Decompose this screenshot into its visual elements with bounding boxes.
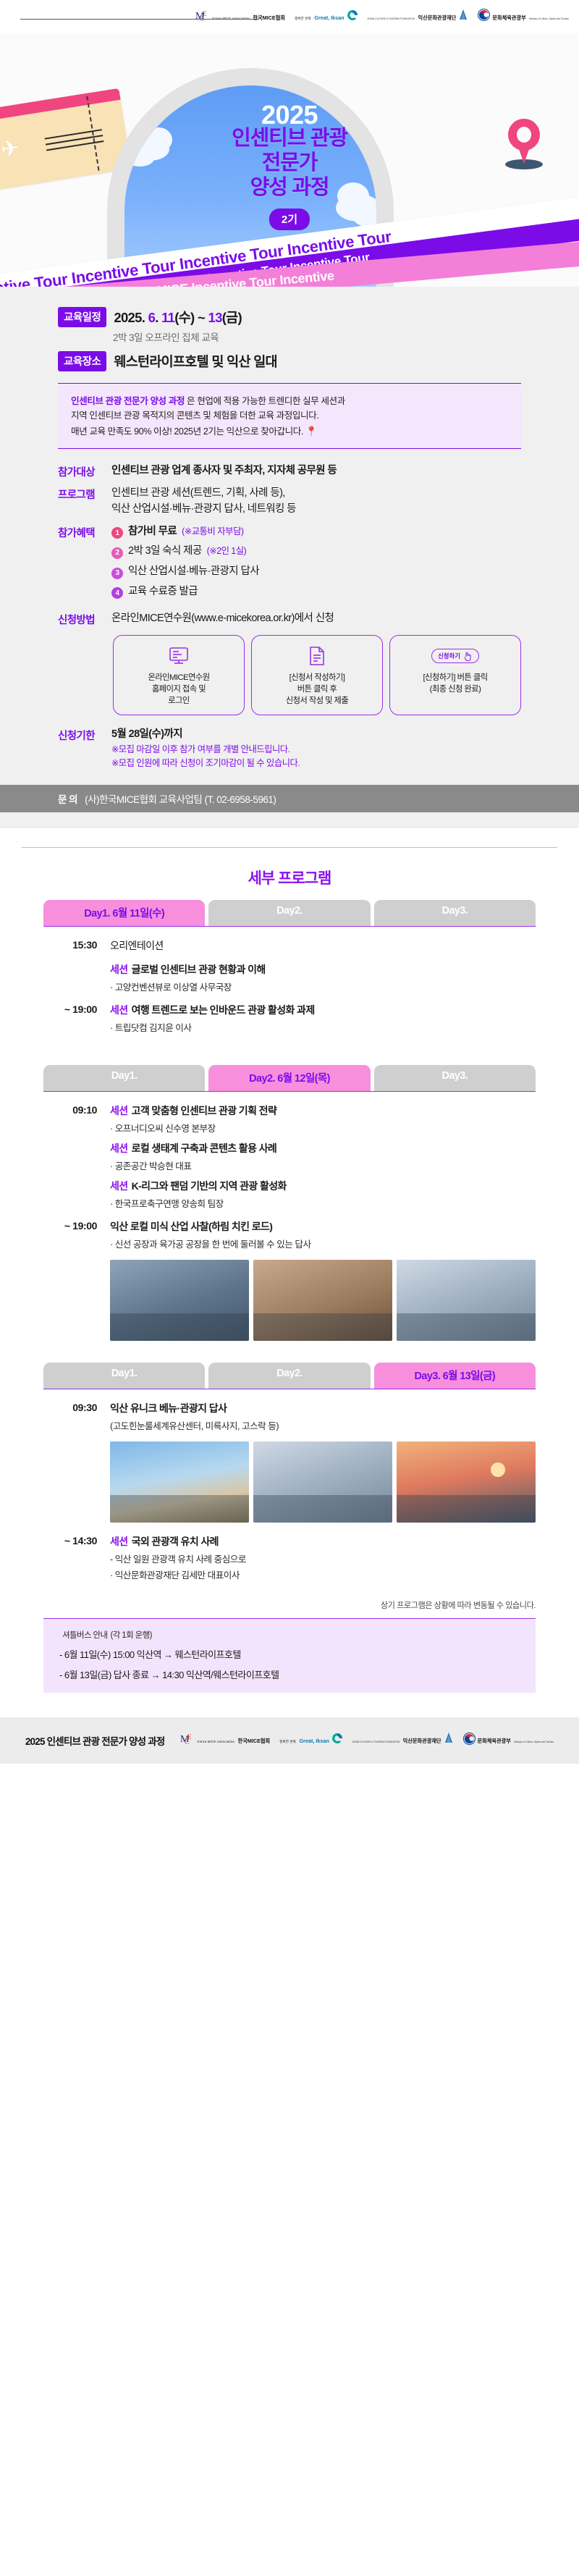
apply-step-text: [신청하기] 버튼 클릭 (최종 신청 완료) — [394, 672, 517, 695]
tab-day1[interactable]: Day1. 6월 11일(수) — [43, 900, 205, 926]
hero-section: ✈ — [0, 33, 579, 287]
shuttle-title: 셔틀버스 안내(각 1회 운행) — [59, 1629, 520, 1641]
description-line-3: 매년 교육 만족도 90% 이상! 2025년 2기는 익산으로 찾아갑니다. … — [71, 424, 508, 439]
slot-time: ~ 19:00 — [43, 1003, 110, 1034]
program-row: 프로그램 인센티브 관광 세션(트렌드, 기획, 사례 등), 익산 산업시설·… — [58, 486, 521, 518]
apply-step-2[interactable]: [신청서 작성하기] 버튼 클릭 후 신청서 작성 및 제출 — [251, 635, 383, 715]
program-value: 인센티브 관광 세션(트렌드, 기획, 사례 등), 익산 산업시설·베뉴·관광… — [111, 486, 296, 518]
logo-en-text: IKSAN CULTURE & TOURISM FOUNDATION — [368, 17, 415, 20]
tab-day1[interactable]: Day1. — [43, 1363, 205, 1389]
list-item: 3 익산 산업시설·베뉴·관광지 답사 — [111, 564, 264, 580]
day-tabs-2: Day1. Day2. 6월 12일(목) Day3. — [43, 1065, 536, 1092]
slot-item-title: 세션국외 관광객 유치 사례 — [110, 1534, 536, 1549]
info-section: 교육일정 2025. 6. 11(수) ~ 13(금) 2박 3일 오프라인 집… — [0, 287, 579, 828]
mice-mark-icon: M E C — [180, 1732, 195, 1748]
header-rule — [20, 19, 259, 20]
venue-row: 교육장소 웨스턴라이프호텔 및 익산 일대 — [58, 351, 521, 371]
logo-en-text: 행복한 변화 — [279, 1740, 296, 1743]
logo-ministry-culture-sports-tourism: 문화체육관광부 Ministry of Culture, Sports and … — [463, 1733, 554, 1748]
shuttle-line: - 6월 13일(금) 답사 종료 → 14:30 익산역/웨스턴라이프호텔 — [59, 1667, 520, 1681]
slot-item-bullet: - 익산 일원 관광객 유치 사례 중심으로 — [110, 1552, 536, 1565]
footer-bar: 2025 인센티브 관광 전문가 양성 과정 M E C Korea MICE … — [0, 1717, 579, 1764]
benefit-text: 교육 수료증 발급 — [128, 584, 198, 600]
photo-thumbnail — [253, 1441, 392, 1523]
tab-day3[interactable]: Day3. 6월 13일(금) — [374, 1363, 536, 1389]
session-badge: 세션 — [110, 964, 128, 975]
program-disclaimer: 상기 프로그램은 상황에 따라 변동될 수 있습니다. — [43, 1599, 536, 1611]
slot-item-title: 오리엔테이션 — [110, 938, 536, 954]
list-item: 4 교육 수료증 발급 — [111, 584, 264, 600]
benefit-label: 참가혜택 — [58, 524, 111, 540]
contact-value: (사)한국MICE협회 교육사업팀 (T. 02-6958-5961) — [85, 794, 276, 805]
schedule-slot: 09:10 세션고객 맞춤형 인센티브 관광 기획 전략 · 오프너디오씨 신수… — [43, 1103, 536, 1210]
logo-en-text: Korea MICE Association — [197, 1740, 234, 1743]
hero-title: 인센티브 관광 전문가 양성 과정 — [0, 126, 579, 201]
list-item: 2 2박 3일 숙식 제공 (※2인 1실) — [111, 544, 264, 560]
session-badge: 세션 — [110, 1536, 128, 1547]
slot-item-bullet: · 한국프로축구연맹 양송희 팀장 — [110, 1196, 536, 1210]
logo-en-text: 행복한 변화 — [295, 17, 311, 20]
program-value-line-1: 인센티브 관광 세션(트렌드, 기획, 사례 등), — [111, 486, 296, 502]
slot-item-bullet: · 공존공간 박승현 대표 — [110, 1158, 536, 1172]
day-panel-2: Day1. Day2. 6월 12일(목) Day3. 09:10 세션고객 맞… — [43, 1065, 536, 1344]
benefit-text: 익산 산업시설·베뉴·관광지 답사 — [128, 564, 259, 580]
slot-item-title: 익산 유니크 베뉴·관광지 답사 — [110, 1401, 536, 1416]
taegeuk-icon — [463, 1733, 476, 1748]
tab-day2[interactable]: Day2. — [208, 900, 370, 926]
photo-thumbnail — [397, 1260, 536, 1341]
shuttle-note: (각 1회 운행) — [110, 1631, 151, 1640]
slot-item-title: 세션로컬 생태계 구축과 콘텐츠 활용 사례 — [110, 1141, 536, 1156]
hero-cohort-badge: 2기 — [269, 209, 310, 230]
day1-body: 15:30 오리엔테이션 세션글로벌 인센티브 관광 현황과 이해 · 고양컨벤… — [43, 927, 536, 1046]
hero-title-line-3: 양성 과정 — [0, 175, 579, 200]
slot-item-bullet: · 고양컨벤션뷰로 이상열 사무국장 — [110, 980, 536, 993]
logo-ko-text: Great, Iksan — [300, 1738, 329, 1744]
day3-body: 09:30 익산 유니크 베뉴·관광지 답사 (고도힌눈룰세계유산센터, 미륵사… — [43, 1389, 536, 1594]
venue-value: 웨스턴라이프호텔 및 익산 일대 — [114, 351, 276, 371]
session-badge: 세션 — [110, 1004, 128, 1016]
slot-item-title: 세션여행 트렌드로 보는 인바운드 관광 활성화 과제 — [110, 1003, 536, 1018]
mice-mark-icon: M E C — [195, 9, 210, 25]
deadline-row: 신청기한 5월 28일(수)까지 ※모집 마감일 이후 참가 여부를 개별 안내… — [58, 727, 521, 770]
schedule-month: 6 — [148, 310, 156, 325]
schedule-slot: 09:30 익산 유니크 베뉴·관광지 답사 (고도힌눈룰세계유산센터, 미륵사… — [43, 1401, 536, 1432]
deadline-note-2: ※모집 인원에 따라 신청이 조기마감이 될 수 있습니다. — [111, 757, 300, 770]
logo-ko-text: 한국MICE협회 — [238, 1738, 270, 1744]
benefit-text: 참가비 무료 — [128, 524, 177, 540]
benefit-row: 참가혜택 1 참가비 무료 (※교통비 자부담) 2 2박 3일 숙식 제공 (… — [58, 524, 521, 605]
benefit-list: 1 참가비 무료 (※교통비 자부담) 2 2박 3일 숙식 제공 (※2인 1… — [111, 524, 264, 605]
svg-text:C: C — [200, 15, 205, 22]
benefit-number-icon: 1 — [111, 527, 123, 539]
tab-day2[interactable]: Day2. 6월 12일(목) — [208, 1065, 370, 1091]
slot-time: ~ 19:00 — [43, 1219, 110, 1250]
logo-korea-mice-association: M E C Korea MICE Association 한국MICE협회 — [180, 1732, 270, 1748]
iksan-swirl-icon — [331, 1733, 343, 1748]
header-logo-group: M E C Korea MICE Association 한국MICE협회 행복… — [195, 9, 569, 25]
schedule-slot: 15:30 오리엔테이션 세션글로벌 인센티브 관광 현황과 이해 · 고양컨벤… — [43, 938, 536, 993]
slot-item-title: 세션글로벌 인센티브 관광 현황과 이해 — [110, 962, 536, 977]
logo-ko-text: 한국MICE협회 — [253, 14, 285, 21]
description-box: 인센티브 관광 전문가 양성 과정 은 현업에 적용 가능한 트렌디한 실무 세… — [58, 383, 521, 449]
iksan-foundation-icon — [444, 1733, 454, 1748]
session-badge: 세션 — [110, 1142, 128, 1154]
photo-thumbnail — [397, 1441, 536, 1523]
poster-page: M E C Korea MICE Association 한국MICE협회 행복… — [0, 0, 579, 1764]
slot-item-title: 세션고객 맞춤형 인센티브 관광 기획 전략 — [110, 1103, 536, 1119]
logo-en-text: IKSAN CULTURE & TOURISM FOUNDATION — [352, 1741, 400, 1743]
map-pin-icon — [505, 119, 543, 169]
benefit-note: (※교통비 자부담) — [182, 525, 243, 539]
logo-ko-text: Great, Iksan — [314, 14, 344, 21]
logo-ministry-culture-sports-tourism: 문화체육관광부 Ministry of Culture, Sports and … — [478, 9, 569, 25]
header-logo-bar: M E C Korea MICE Association 한국MICE협회 행복… — [0, 0, 579, 33]
benefit-number-icon: 2 — [111, 547, 123, 559]
slot-item-bullet: (고도힌눈룰세계유산센터, 미륵사지, 고스락 등) — [110, 1418, 536, 1432]
benefit-note: (※2인 1실) — [207, 544, 246, 558]
svg-text:C: C — [185, 1738, 190, 1745]
session-badge: 세션 — [110, 1105, 128, 1116]
cursor-hand-icon — [463, 651, 473, 661]
day-tabs-1: Day1. 6월 11일(수) Day2. Day3. — [43, 900, 536, 927]
contact-label: 문 의 — [58, 794, 77, 805]
apply-step-1[interactable]: 온라인MICE연수원 홈페이지 접속 및 로그인 — [113, 635, 245, 715]
deadline-note-1: ※모집 마감일 이후 참가 여부를 개별 안내드립니다. — [111, 743, 300, 757]
hero-title-line-1: 인센티브 관광 — [0, 126, 579, 151]
tab-day3[interactable]: Day3. — [374, 900, 536, 926]
section-divider — [22, 847, 557, 848]
venue-tag: 교육장소 — [58, 351, 106, 371]
document-icon — [255, 644, 379, 668]
day2-photo-strip — [110, 1260, 536, 1341]
photo-thumbnail — [110, 1441, 249, 1523]
schedule-slot: ~ 19:00 세션여행 트렌드로 보는 인바운드 관광 활성화 과제 · 트립… — [43, 1003, 536, 1034]
logo-en-text: Ministry of Culture, Sports and Tourism — [529, 17, 569, 20]
apply-method-label: 신청방법 — [58, 611, 111, 627]
description-highlight: 인센티브 관광 전문가 양성 과정 — [71, 396, 185, 406]
footer-title: 2025 인센티브 관광 전문가 양성 과정 — [25, 1733, 165, 1748]
taegeuk-icon — [478, 9, 490, 25]
apply-step-text: [신청서 작성하기] 버튼 클릭 후 신청서 작성 및 제출 — [255, 672, 379, 707]
slot-item-title: 익산 로컬 미식 산업 사찰(하림 치킨 로드) — [110, 1219, 536, 1234]
deadline-block: 5월 28일(수)까지 ※모집 마감일 이후 참가 여부를 개별 안내드립니다.… — [111, 727, 300, 770]
apply-steps: 온라인MICE연수원 홈페이지 접속 및 로그인 [신청서 작성하기] — [113, 635, 521, 715]
day2-body: 09:10 세션고객 맞춤형 인센티브 관광 기획 전략 · 오프너디오씨 신수… — [43, 1092, 536, 1344]
logo-ko-text: 문화체육관광부 — [478, 1738, 511, 1744]
schedule-row: 교육일정 2025. 6. 11(수) ~ 13(금) — [58, 307, 521, 327]
session-badge: 세션 — [110, 1180, 128, 1192]
description-line-2: 지역 인센티브 관광 목적지의 콘텐츠 및 체험을 더한 교육 과정입니다. — [71, 408, 508, 423]
schedule-day-start: 11 — [161, 310, 174, 325]
logo-great-iksan: 행복한 변화 Great, Iksan — [295, 9, 358, 25]
target-row: 참가대상 인센티브 관광 업계 종사자 및 주최자, 지자체 공무원 등 — [58, 463, 521, 479]
apply-method-value: 온라인MICE연수원(www.e-micekorea.or.kr)에서 신청 — [111, 611, 334, 627]
target-label: 참가대상 — [58, 463, 111, 479]
benefit-number-icon: 4 — [111, 587, 123, 599]
footer-logo-group: M E C Korea MICE Association 한국MICE협회 행복… — [180, 1732, 554, 1748]
iksan-foundation-icon — [458, 9, 468, 25]
slot-item-bullet: · 오프너디오씨 신수영 본부장 — [110, 1121, 536, 1135]
slot-item-bullet: · 익산문화관광재단 김세만 대표이사 — [110, 1567, 536, 1581]
schedule-subtext: 2박 3일 오프라인 집체 교육 — [113, 329, 521, 344]
tab-day2[interactable]: Day2. — [208, 1363, 370, 1389]
tab-day1[interactable]: Day1. — [43, 1065, 205, 1091]
deadline-label: 신청기한 — [58, 727, 111, 743]
slot-item-bullet: · 트립닷컴 김지윤 이사 — [110, 1020, 536, 1034]
schedule-day-end: 13 — [208, 310, 222, 325]
hero-title-line-2: 전문가 — [0, 151, 579, 175]
tab-day3[interactable]: Day3. — [374, 1065, 536, 1091]
logo-iksan-culture-tourism-foundation: IKSAN CULTURE & TOURISM FOUNDATION 익산문화관… — [368, 9, 469, 25]
logo-en-text: Ministry of Culture, Sports and Tourism — [514, 1741, 554, 1743]
apply-mini-button[interactable]: 신청하기 — [431, 649, 479, 663]
logo-iksan-culture-tourism-foundation: IKSAN CULTURE & TOURISM FOUNDATION 익산문화관… — [352, 1733, 454, 1748]
photo-thumbnail — [110, 1260, 249, 1341]
program-label: 프로그램 — [58, 486, 111, 502]
list-item: 1 참가비 무료 (※교통비 자부담) — [111, 524, 264, 540]
logo-ko-text: 문화체육관광부 — [492, 14, 525, 21]
day-tabs-3: Day1. Day2. Day3. 6월 13일(금) — [43, 1363, 536, 1389]
logo-korea-mice-association: M E C Korea MICE Association 한국MICE협회 — [195, 9, 285, 25]
logo-ko-text: 익산문화관광재단 — [418, 14, 456, 21]
shuttle-line: - 6월 11일(수) 15:00 익산역 → 웨스턴라이프호텔 — [59, 1647, 520, 1661]
slot-item-title: 세션K-리그와 팬덤 기반의 지역 관광 활성화 — [110, 1179, 536, 1194]
schedule-slot: ~ 19:00 익산 로컬 미식 산업 사찰(하림 치킨 로드) · 신선 공장… — [43, 1219, 536, 1250]
apply-method-row: 신청방법 온라인MICE연수원(www.e-micekorea.or.kr)에서… — [58, 611, 521, 627]
slot-time: 15:30 — [43, 938, 110, 993]
benefit-text: 2박 3일 숙식 제공 — [128, 544, 202, 560]
program-section: 세부 프로그램 Day1. 6월 11일(수) Day2. Day3. 15:3… — [0, 828, 579, 1693]
map-pin-small-icon: 📍 — [305, 426, 317, 437]
description-line-1: 인센티브 관광 전문가 양성 과정 은 현업에 적용 가능한 트렌디한 실무 세… — [71, 394, 508, 408]
program-heading: 세부 프로그램 — [0, 867, 579, 888]
apply-step-3[interactable]: 신청하기 [신청하기] 버튼 클릭 (최종 신청 완료) — [389, 635, 521, 715]
day-panel-1: Day1. 6월 11일(수) Day2. Day3. 15:30 오리엔테이션… — [43, 900, 536, 1046]
monitor-icon — [117, 644, 240, 668]
iksan-swirl-icon — [347, 9, 358, 25]
photo-thumbnail — [253, 1260, 392, 1341]
schedule-tag: 교육일정 — [58, 307, 106, 327]
logo-great-iksan: 행복한 변화 Great, Iksan — [279, 1733, 343, 1748]
slot-item-bullet: · 신선 공장과 육가공 공장을 한 번에 둘러볼 수 있는 답사 — [110, 1237, 536, 1250]
schedule-slot: ~ 14:30 세션국외 관광객 유치 사례 - 익산 일원 관광객 유치 사례… — [43, 1534, 536, 1581]
benefit-number-icon: 3 — [111, 568, 123, 579]
day3-photo-strip — [110, 1441, 536, 1523]
schedule-value: 2025. 6. 11(수) ~ 13(금) — [114, 307, 242, 327]
target-value: 인센티브 관광 업계 종사자 및 주최자, 지자체 공무원 등 — [111, 463, 337, 479]
program-value-line-2: 익산 산업시설·베뉴·관광지 답사, 네트워킹 등 — [111, 502, 296, 518]
apply-step-text: 온라인MICE연수원 홈페이지 접속 및 로그인 — [117, 672, 240, 707]
contact-bar: 문 의(사)한국MICE협회 교육사업팀 (T. 02-6958-5961) — [0, 785, 579, 812]
deadline-value: 5월 28일(수)까지 — [111, 727, 300, 743]
shuttle-info-box: 셔틀버스 안내(각 1회 운행) - 6월 11일(수) 15:00 익산역 →… — [43, 1618, 536, 1693]
click-button-icon: 신청하기 — [394, 644, 517, 668]
slot-time: 09:30 — [43, 1401, 110, 1432]
slot-time: 09:10 — [43, 1103, 110, 1210]
slot-time: ~ 14:30 — [43, 1534, 110, 1581]
logo-ko-text: 익산문화관광재단 — [403, 1738, 441, 1744]
day-panel-3: Day1. Day2. Day3. 6월 13일(금) 09:30 익산 유니크… — [43, 1363, 536, 1594]
